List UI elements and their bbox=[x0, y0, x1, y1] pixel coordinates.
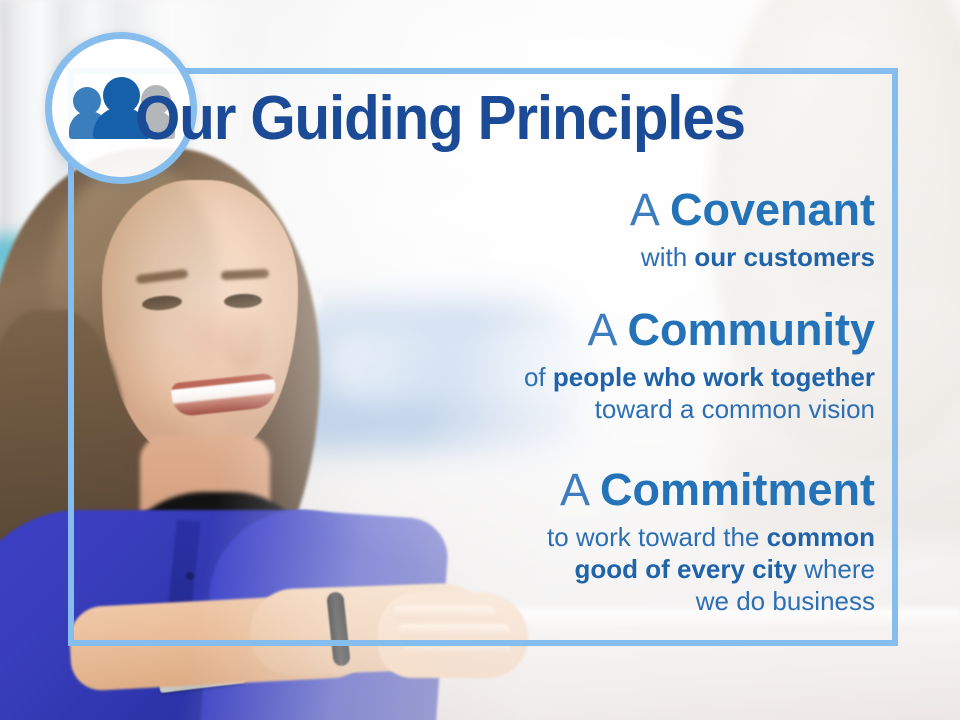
principle-subtext: of people who work together toward a com… bbox=[524, 362, 875, 425]
page-title: Our Guiding Principles bbox=[26, 88, 853, 150]
employee-finger bbox=[392, 606, 496, 619]
principle-keyword: Commitment bbox=[600, 464, 875, 515]
subtext-regular: with bbox=[641, 242, 694, 272]
principle-article: A bbox=[630, 184, 670, 235]
subtext-regular: to work toward the bbox=[547, 522, 767, 552]
principle-community: A Community of people who work together … bbox=[524, 306, 875, 426]
principle-article: A bbox=[560, 464, 600, 515]
subtext-bold: people who work together bbox=[553, 362, 875, 392]
principle-covenant: A Covenant with our customers bbox=[630, 186, 875, 274]
subtext-bold: our customers bbox=[694, 242, 875, 272]
principle-subtext: with our customers bbox=[630, 242, 875, 274]
subtext-bold: good of every city bbox=[574, 554, 797, 584]
subtext-regular: where bbox=[797, 554, 875, 584]
employee-finger bbox=[404, 642, 510, 655]
subtext-line: to work toward the common bbox=[547, 522, 875, 554]
subtext-bold: common bbox=[767, 522, 875, 552]
principle-subtext: to work toward the common good of every … bbox=[547, 522, 875, 617]
principle-article: A bbox=[587, 304, 627, 355]
principle-headline: A Commitment bbox=[547, 466, 875, 513]
subtext-regular: of bbox=[524, 362, 553, 392]
principle-commitment: A Commitment to work toward the common g… bbox=[547, 466, 875, 617]
subtext-line: of people who work together bbox=[524, 362, 875, 394]
employee-finger bbox=[398, 624, 510, 637]
principle-headline: A Covenant bbox=[630, 186, 875, 233]
subtext-line: toward a common vision bbox=[524, 394, 875, 426]
banner-image: FLOW Automotive FLOW Our Guiding Princip… bbox=[0, 0, 960, 720]
principle-headline: A Community bbox=[524, 306, 875, 353]
subtext-line: good of every city where bbox=[547, 554, 875, 586]
principle-keyword: Covenant bbox=[670, 184, 875, 235]
principle-keyword: Community bbox=[628, 304, 876, 355]
employee-polo-button bbox=[186, 572, 194, 580]
subtext-line: we do business bbox=[547, 586, 875, 618]
